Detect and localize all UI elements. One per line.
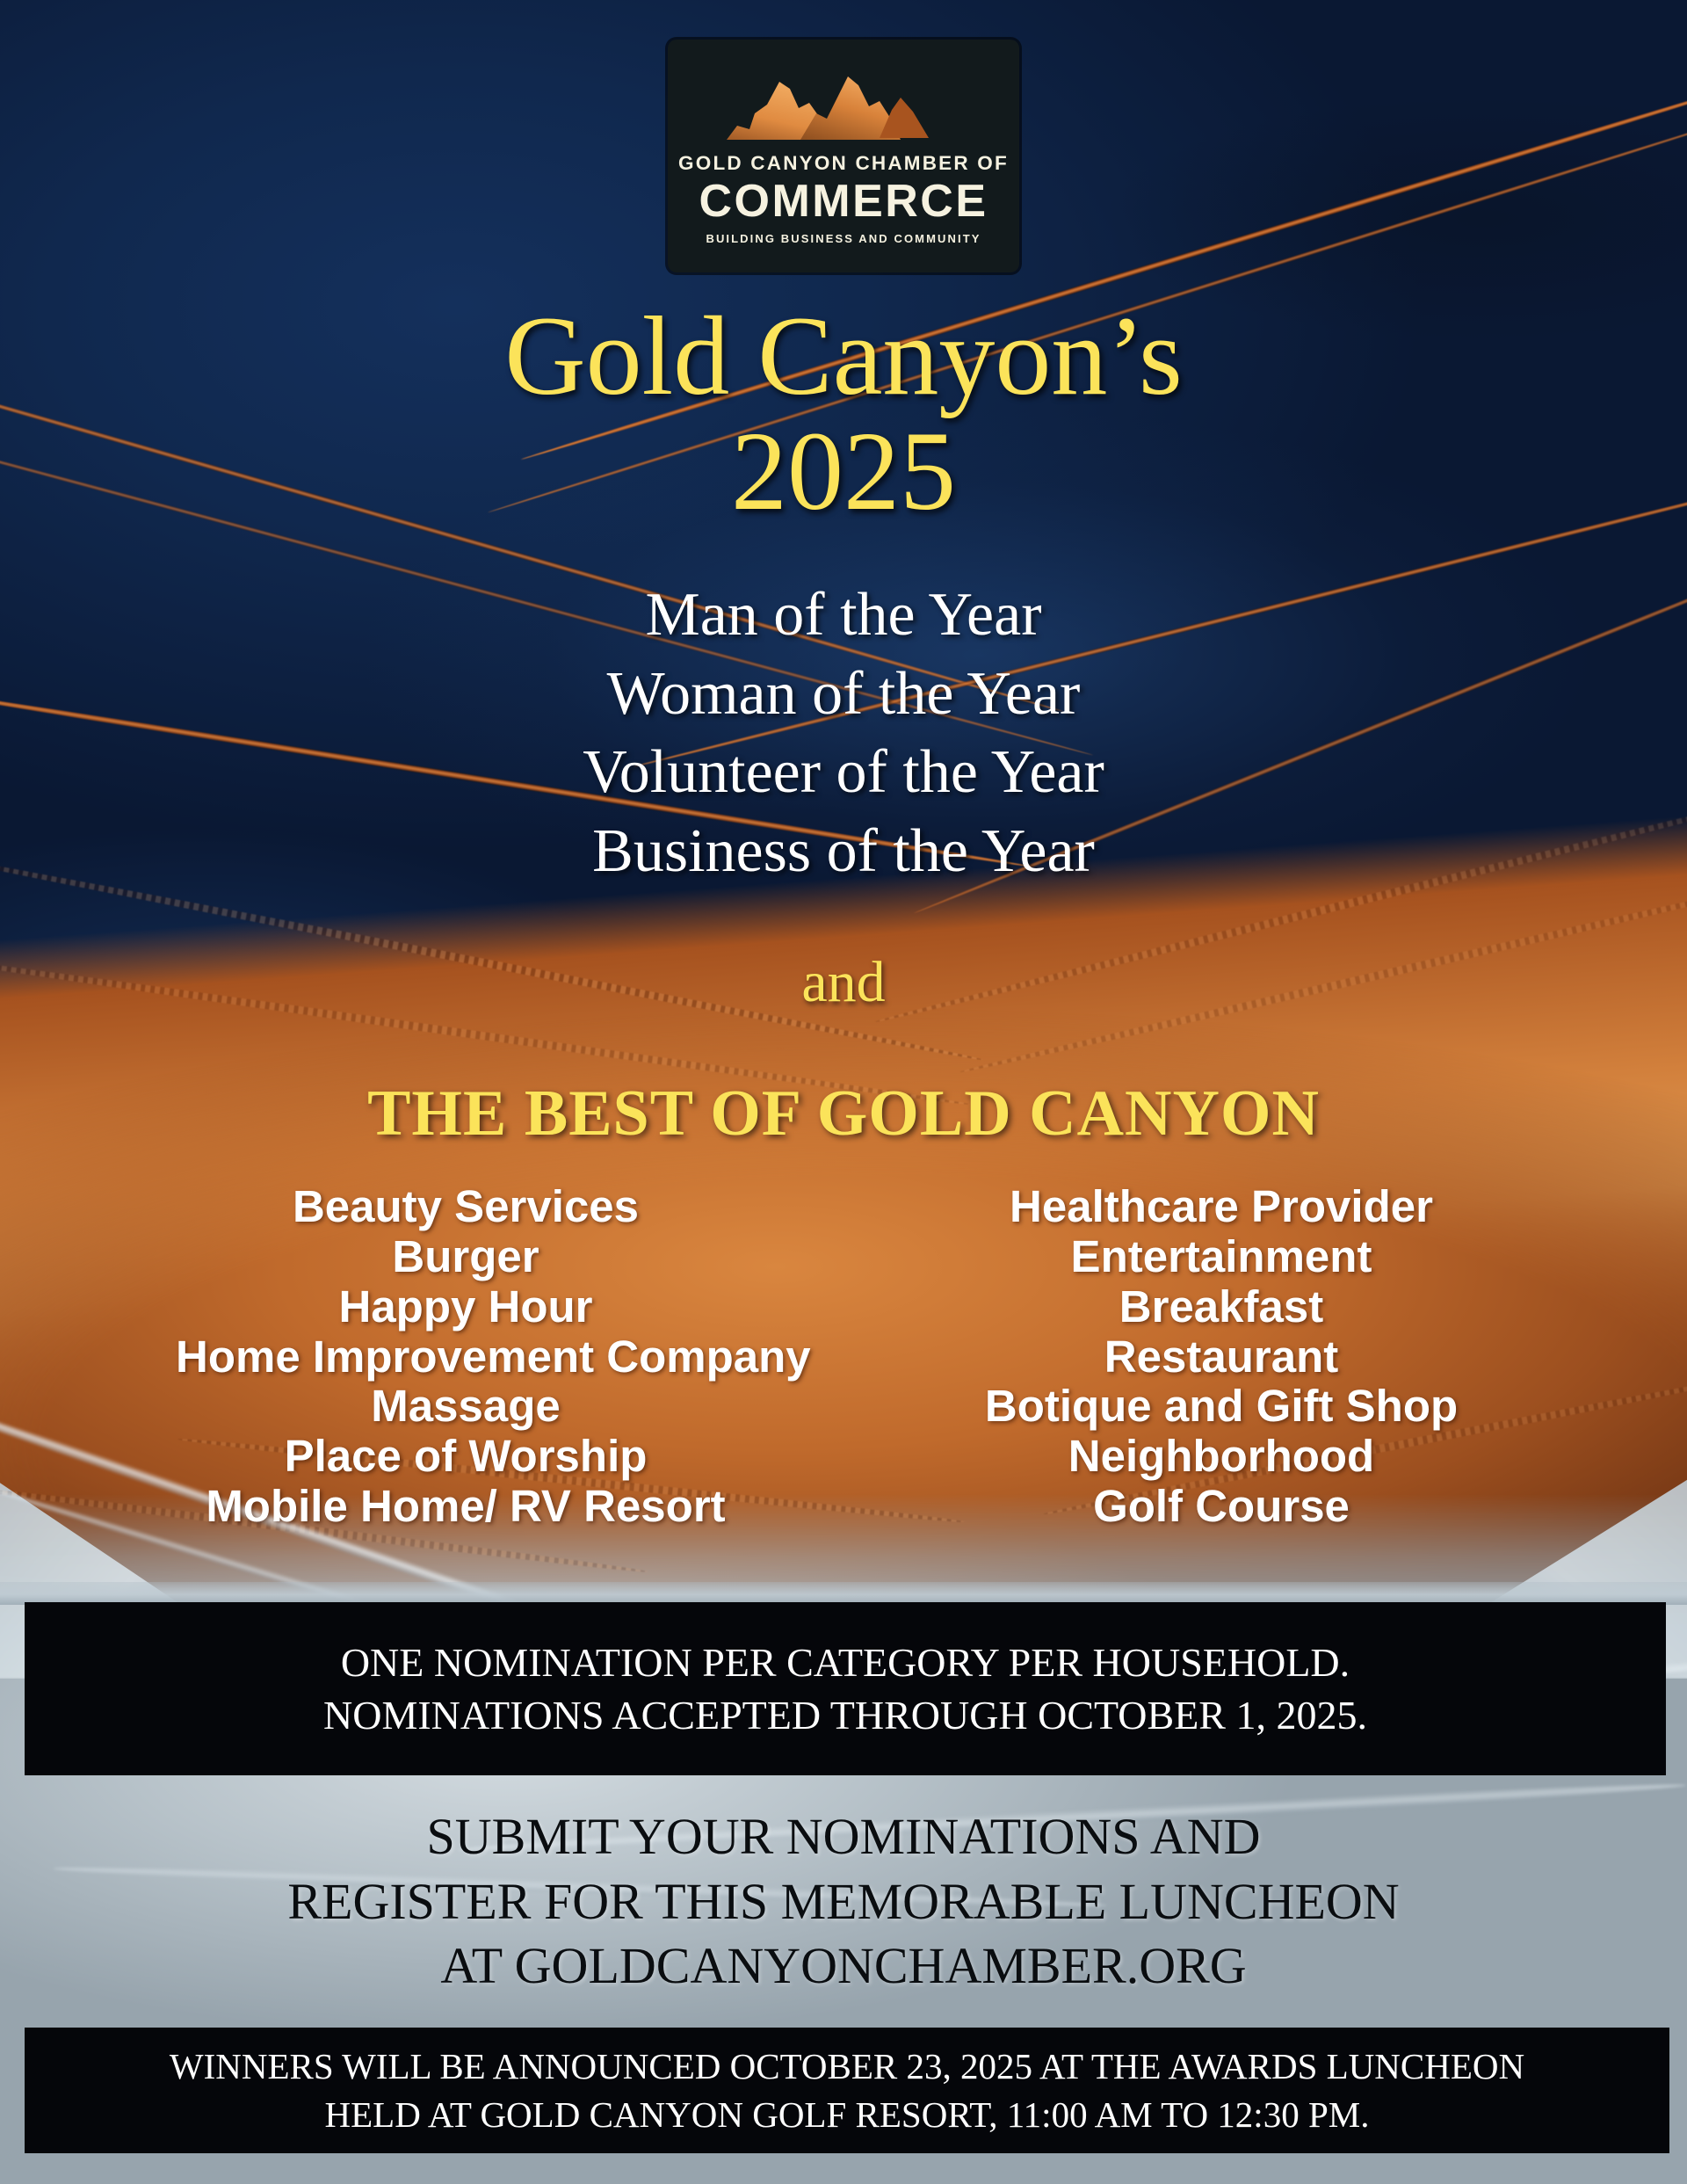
best-of-right-column: Healthcare Provider Entertainment Breakf… xyxy=(931,1182,1511,1532)
best-of-category-columns: Beauty Services Burger Happy Hour Home I… xyxy=(0,1182,1687,1532)
list-item: Golf Course xyxy=(931,1482,1511,1532)
submit-line-2: REGISTER FOR THIS MEMORABLE LUNCHEON xyxy=(287,1869,1399,1934)
best-of-left-column: Beauty Services Burger Happy Hour Home I… xyxy=(176,1182,756,1532)
award-item: Volunteer of the Year xyxy=(0,733,1687,812)
submit-website-url[interactable]: AT GOLDCANYONCHAMBER.ORG xyxy=(440,1934,1246,1999)
list-item: Place of Worship xyxy=(176,1432,756,1482)
submit-line-1: SUBMIT YOUR NOMINATIONS AND xyxy=(426,1804,1260,1869)
list-item: Healthcare Provider xyxy=(931,1182,1511,1232)
nomination-line-1: ONE NOMINATION PER CATEGORY PER HOUSEHOL… xyxy=(341,1636,1350,1689)
logo-tagline: BUILDING BUSINESS AND COMMUNITY xyxy=(706,232,981,245)
headline-year: 2025 xyxy=(0,414,1687,529)
list-item: Beauty Services xyxy=(176,1182,756,1232)
winners-announcement-banner: WINNERS WILL BE ANNOUNCED OCTOBER 23, 20… xyxy=(25,2028,1669,2153)
page-title: Gold Canyon’s 2025 xyxy=(0,299,1687,528)
submit-instructions-banner: SUBMIT YOUR NOMINATIONS AND REGISTER FOR… xyxy=(0,1775,1687,2028)
winners-line-1: WINNERS WILL BE ANNOUNCED OCTOBER 23, 20… xyxy=(170,2043,1524,2090)
logo-line-1: GOLD CANYON CHAMBER OF xyxy=(678,154,1009,174)
best-of-title: THE BEST OF GOLD CANYON xyxy=(0,1077,1687,1151)
award-item: Man of the Year xyxy=(0,576,1687,655)
list-item: Entertainment xyxy=(931,1232,1511,1282)
winners-line-2: HELD AT GOLD CANYON GOLF RESORT, 11:00 A… xyxy=(325,2091,1370,2138)
poster-content: GOLD CANYON CHAMBER OF COMMERCE BUILDING… xyxy=(0,0,1687,2184)
list-item: Mobile Home/ RV Resort xyxy=(176,1482,756,1532)
list-item: Happy Hour xyxy=(176,1282,756,1332)
list-item: Breakfast xyxy=(931,1282,1511,1332)
award-item: Woman of the Year xyxy=(0,655,1687,734)
nomination-line-2: NOMINATIONS ACCEPTED THROUGH OCTOBER 1, … xyxy=(323,1689,1367,1742)
list-item: Massage xyxy=(176,1382,756,1432)
list-item: Restaurant xyxy=(931,1332,1511,1382)
award-item: Business of the Year xyxy=(0,812,1687,891)
mountain-range-icon xyxy=(725,62,962,143)
chamber-logo: GOLD CANYON CHAMBER OF COMMERCE BUILDING… xyxy=(668,40,1019,272)
list-item: Botique and Gift Shop xyxy=(931,1382,1511,1432)
headline-line-1: Gold Canyon’s xyxy=(0,299,1687,414)
award-category-list: Man of the Year Woman of the Year Volunt… xyxy=(0,576,1687,890)
nomination-rules-banner: ONE NOMINATION PER CATEGORY PER HOUSEHOL… xyxy=(25,1602,1666,1775)
logo-line-2: COMMERCE xyxy=(699,178,988,225)
list-item: Burger xyxy=(176,1232,756,1282)
conjunction-and: and xyxy=(0,949,1687,1016)
list-item: Neighborhood xyxy=(931,1432,1511,1482)
list-item: Home Improvement Company xyxy=(176,1332,756,1382)
poster-canvas: GOLD CANYON CHAMBER OF COMMERCE BUILDING… xyxy=(0,0,1687,2184)
